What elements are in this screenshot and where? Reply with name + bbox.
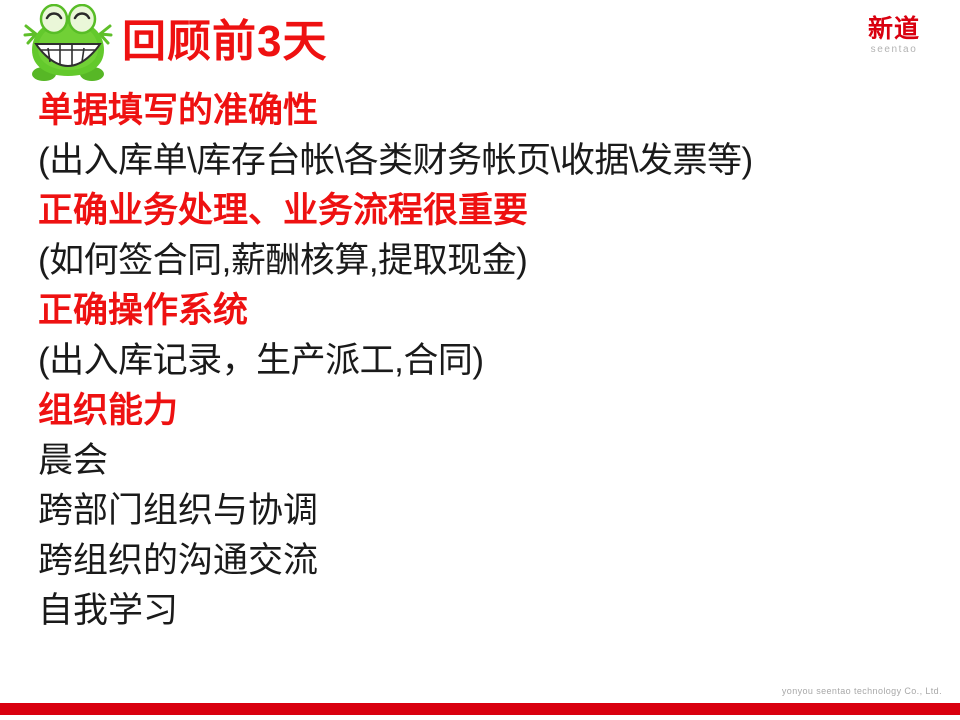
content-line: 跨部门组织与协调: [38, 486, 954, 536]
brand-subtitle: seentao: [846, 43, 942, 56]
slide-header: 回顾前3天 新道 seentao: [0, 0, 960, 88]
content-line: (出入库单\库存台帐\各类财务帐页\收据\发票等): [38, 136, 954, 186]
footer-copyright: yonyou seentao technology Co., Ltd.: [782, 686, 942, 696]
content-line: 自我学习: [38, 586, 954, 636]
content-line: 晨会: [38, 436, 954, 486]
content-lines: 单据填写的准确性 (出入库单\库存台帐\各类财务帐页\收据\发票等) 正确业务处…: [38, 86, 954, 636]
page-title: 回顾前3天: [122, 14, 327, 70]
brand-logo: 新道 seentao: [846, 16, 942, 56]
slide: 回顾前3天 新道 seentao 单据填写的准确性 (出入库单\库存台帐\各类财…: [0, 0, 960, 720]
content-line: 组织能力: [38, 386, 954, 436]
content-line: (如何签合同,薪酬核算,提取现金): [38, 236, 954, 286]
content-line: (出入库记录，生产派工,合同): [38, 336, 954, 386]
content-line: 正确业务处理、业务流程很重要: [38, 186, 954, 236]
smiling-green-frog-icon: [22, 4, 114, 86]
content-line: 单据填写的准确性: [38, 86, 954, 136]
content-line: 正确操作系统: [38, 286, 954, 336]
brand-name: 新道: [846, 16, 942, 43]
content-line: 跨组织的沟通交流: [38, 536, 954, 586]
footer-accent-bar: [0, 703, 960, 715]
